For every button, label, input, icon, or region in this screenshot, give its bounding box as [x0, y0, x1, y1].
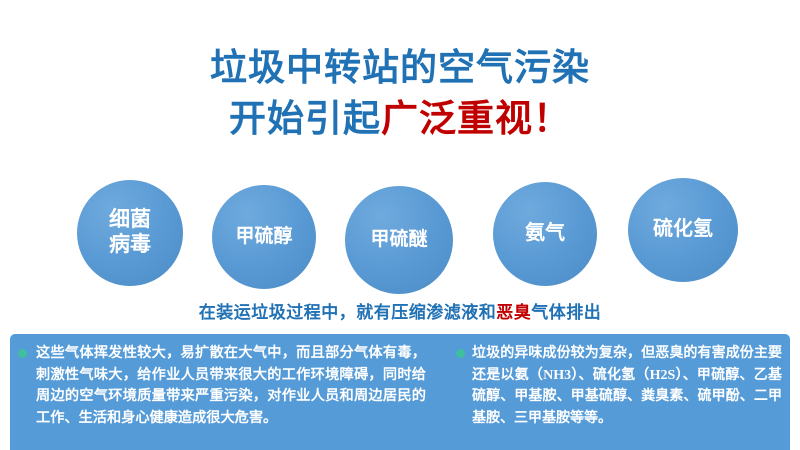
pollutant-circle-row: 细菌病毒 甲硫醇 甲硫醚 氨气 硫化氢 [0, 170, 800, 295]
circle-bacteria-virus[interactable]: 细菌病毒 [77, 180, 183, 286]
info-text-left: 这些气体挥发性较大，易扩散在大气中，而且部分气体有毒，刺激性气味大，给作业人员带… [36, 343, 426, 429]
caption-suffix: 气体排出 [531, 303, 601, 322]
bullet-dot-icon [456, 349, 465, 358]
circle-label: 细菌病毒 [103, 208, 157, 258]
bullet-dot-icon [18, 349, 27, 358]
circle-methanethiol[interactable]: 甲硫醇 [212, 185, 316, 289]
info-column-right: 垃圾的异味成份较为复杂，但恶臭的有害成份主要还是以氨（NH3）、硫化氢（H2S）… [434, 334, 790, 450]
circle-ammonia[interactable]: 氨气 [493, 182, 597, 286]
circle-label-line-2: 病毒 [109, 233, 151, 256]
caption-prefix: 在装运垃圾过程中，就有压缩渗滤液和 [199, 303, 497, 322]
circle-dimethyl-sulfide[interactable]: 甲硫醚 [345, 186, 453, 294]
circle-label: 氨气 [519, 222, 571, 246]
circle-label: 硫化氢 [647, 218, 719, 242]
caption: 在装运垃圾过程中，就有压缩渗滤液和恶臭气体排出 [0, 298, 800, 323]
circle-label: 甲硫醚 [364, 229, 433, 251]
circle-hydrogen-sulfide[interactable]: 硫化氢 [628, 178, 738, 282]
caption-highlight: 恶臭 [496, 303, 531, 322]
page-title: 垃圾中转站的空气污染 开始引起广泛重视！ [0, 42, 800, 144]
info-text-right: 垃圾的异味成份较为复杂，但恶臭的有害成份主要还是以氨（NH3）、硫化氢（H2S）… [472, 343, 782, 429]
info-panel: 这些气体挥发性较大，易扩散在大气中，而且部分气体有毒，刺激性气味大，给作业人员带… [10, 334, 790, 450]
slide-canvas: 垃圾中转站的空气污染 开始引起广泛重视！ 细菌病毒 甲硫醇 甲硫醚 氨气 硫化氢… [0, 0, 800, 450]
title-line-2-prefix: 开始引起 [229, 98, 381, 139]
circle-label-line-1: 细菌 [109, 208, 151, 231]
title-line-2-highlight: 广泛重视！ [381, 98, 571, 139]
info-column-left: 这些气体挥发性较大，易扩散在大气中，而且部分气体有毒，刺激性气味大，给作业人员带… [10, 334, 434, 450]
title-line-1: 垃圾中转站的空气污染 [0, 42, 800, 93]
title-line-2: 开始引起广泛重视！ [0, 93, 800, 144]
circle-label: 甲硫醇 [229, 226, 298, 248]
